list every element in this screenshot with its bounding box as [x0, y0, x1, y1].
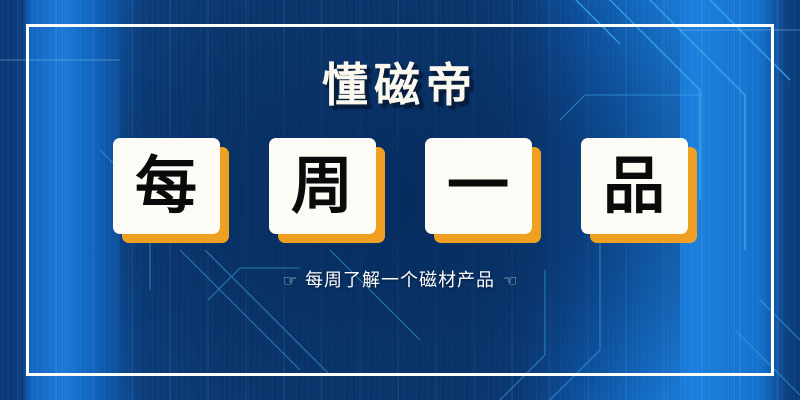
card-face: 品: [581, 138, 688, 234]
card-face: 一: [425, 138, 532, 234]
card-character: 周: [291, 155, 353, 217]
card-yi: 一: [425, 138, 532, 234]
eye-flourish-icon: ☜: [282, 273, 297, 289]
card-face: 周: [269, 138, 376, 234]
card-face: 每: [113, 138, 220, 234]
banner-content: 懂磁帝 每 周 一: [0, 0, 800, 400]
banner-subtitle: 每周了解一个磁材产品: [305, 272, 495, 290]
card-mei: 每: [113, 138, 220, 234]
banner-subtitle-row: ☜ 每周了解一个磁材产品 ☜: [282, 272, 519, 290]
card-zhou: 周: [269, 138, 376, 234]
card-character: 每: [135, 155, 197, 217]
card-character: 一: [447, 155, 509, 217]
card-pin: 品: [581, 138, 688, 234]
character-card-row: 每 周 一 品: [113, 138, 688, 234]
card-character: 品: [603, 155, 665, 217]
eye-flourish-icon: ☜: [503, 273, 518, 289]
banner-title: 懂磁帝: [322, 62, 478, 108]
promo-banner: 懂磁帝 每 周 一: [0, 0, 800, 400]
